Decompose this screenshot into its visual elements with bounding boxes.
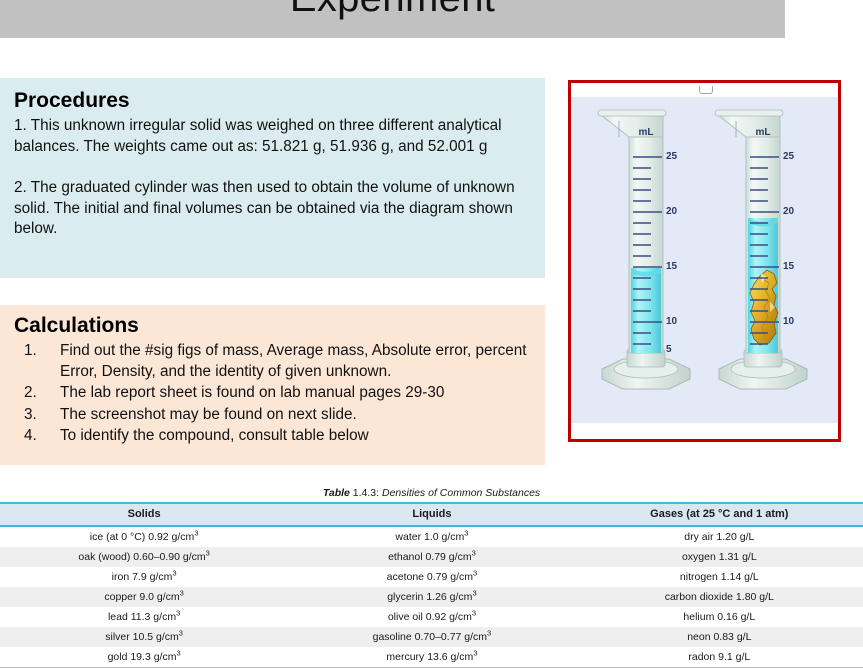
- cell-solid: oak (wood) 0.60–0.90 g/cm3: [0, 547, 288, 567]
- calculations-item-text: The screenshot may be found on next slid…: [60, 406, 357, 423]
- cell-text: helium 0.16 g/L: [683, 611, 755, 623]
- cell-gas: radon 9.1 g/L: [576, 647, 863, 668]
- table-row: copper 9.0 g/cm3glycerin 1.26 g/cm3carbo…: [0, 587, 863, 607]
- cell-solid: lead 11.3 g/cm3: [0, 607, 288, 627]
- calculations-item-text: The lab report sheet is found on lab man…: [60, 384, 444, 401]
- calculations-item: 3.The screenshot may be found on next sl…: [14, 405, 531, 426]
- svg-text:15: 15: [783, 261, 795, 272]
- caption-title: Densities of Common Substances: [382, 487, 540, 499]
- calculations-item-number: 1.: [24, 341, 37, 362]
- density-table-section: Table 1.4.3: Densities of Common Substan…: [0, 486, 863, 668]
- cell-liquid: water 1.0 g/cm3: [288, 526, 575, 547]
- calculations-item-text: Find out the #sig figs of mass, Average …: [60, 342, 527, 380]
- table-body: ice (at 0 °C) 0.92 g/cm3water 1.0 g/cm3d…: [0, 526, 863, 668]
- cell-text: gasoline 0.70–0.77 g/cm: [373, 631, 487, 643]
- cell-text: water 1.0 g/cm: [395, 531, 464, 543]
- figure-canvas: mL 25 20 15 10 5: [571, 97, 838, 423]
- caption-separator: :: [376, 487, 379, 499]
- svg-text:20: 20: [666, 206, 678, 217]
- cell-exponent: 3: [180, 589, 184, 598]
- calculations-item: 1.Find out the #sig figs of mass, Averag…: [14, 341, 531, 382]
- cell-liquid: mercury 13.6 g/cm3: [288, 647, 575, 668]
- cell-text: gold 19.3 g/cm: [108, 651, 177, 663]
- cell-text: carbon dioxide 1.80 g/L: [665, 591, 774, 603]
- cell-text: lead 11.3 g/cm: [108, 611, 176, 623]
- procedures-step-1: 1. This unknown irregular solid was weig…: [14, 116, 531, 157]
- figure-bottom-strip: [571, 423, 838, 439]
- cell-solid: ice (at 0 °C) 0.92 g/cm3: [0, 526, 288, 547]
- page-title: Experiment: [0, 0, 785, 24]
- initial-volume-cylinder: mL 25 20 15 10 5: [598, 110, 690, 389]
- graduated-cylinder-figure: mL 25 20 15 10 5: [568, 80, 841, 442]
- svg-text:25: 25: [666, 151, 678, 162]
- cell-gas: helium 0.16 g/L: [576, 607, 863, 627]
- cell-solid: silver 10.5 g/cm3: [0, 627, 288, 647]
- cell-exponent: 3: [176, 649, 180, 658]
- calculations-item-number: 4.: [24, 426, 37, 447]
- cell-exponent: 3: [473, 569, 477, 578]
- cell-exponent: 3: [194, 529, 198, 538]
- cell-text: neon 0.83 g/L: [687, 631, 751, 643]
- calculations-item-number: 2.: [24, 383, 37, 404]
- svg-text:25: 25: [783, 151, 795, 162]
- cell-text: silver 10.5 g/cm: [105, 631, 179, 643]
- cell-liquid: glycerin 1.26 g/cm3: [288, 587, 575, 607]
- cell-gas: nitrogen 1.14 g/L: [576, 567, 863, 587]
- cell-text: ethanol 0.79 g/cm: [388, 551, 471, 563]
- cell-solid: iron 7.9 g/cm3: [0, 567, 288, 587]
- table-row: ice (at 0 °C) 0.92 g/cm3water 1.0 g/cm3d…: [0, 526, 863, 547]
- table-row: gold 19.3 g/cm3mercury 13.6 g/cm3radon 9…: [0, 647, 863, 668]
- cell-text: mercury 13.6 g/cm: [386, 651, 473, 663]
- calculations-heading: Calculations: [14, 313, 531, 339]
- svg-text:10: 10: [666, 316, 678, 327]
- cell-gas: carbon dioxide 1.80 g/L: [576, 587, 863, 607]
- cell-text: iron 7.9 g/cm: [112, 571, 173, 583]
- cell-text: ice (at 0 °C) 0.92 g/cm: [90, 531, 195, 543]
- cell-exponent: 3: [472, 589, 476, 598]
- svg-text:5: 5: [666, 344, 672, 355]
- cell-text: radon 9.1 g/L: [688, 651, 750, 663]
- calculations-item-number: 3.: [24, 405, 37, 426]
- cell-exponent: 3: [472, 609, 476, 618]
- cell-gas: dry air 1.20 g/L: [576, 526, 863, 547]
- table-caption: Table 1.4.3: Densities of Common Substan…: [0, 486, 863, 502]
- calculations-list: 1.Find out the #sig figs of mass, Averag…: [14, 341, 531, 447]
- cell-text: dry air 1.20 g/L: [684, 531, 754, 543]
- cell-text: nitrogen 1.14 g/L: [680, 571, 759, 583]
- cell-text: oxygen 1.31 g/L: [682, 551, 757, 563]
- left-unit-label: mL: [639, 127, 654, 138]
- cell-exponent: 3: [206, 549, 210, 558]
- slide-title-bar: Experiment: [0, 0, 785, 38]
- table-row: iron 7.9 g/cm3acetone 0.79 g/cm3nitrogen…: [0, 567, 863, 587]
- cell-text: oak (wood) 0.60–0.90 g/cm: [78, 551, 205, 563]
- figure-top-strip: [571, 83, 838, 97]
- cell-solid: gold 19.3 g/cm3: [0, 647, 288, 668]
- column-header-gases: Gases (at 25 °C and 1 atm): [576, 503, 863, 526]
- cell-gas: oxygen 1.31 g/L: [576, 547, 863, 567]
- table-row: silver 10.5 g/cm3gasoline 0.70–0.77 g/cm…: [0, 627, 863, 647]
- final-volume-cylinder: mL 25 20 15 10: [715, 110, 807, 389]
- caption-number: 1.4.3: [353, 487, 376, 499]
- column-header-liquids: Liquids: [288, 503, 575, 526]
- table-row: lead 11.3 g/cm3olive oil 0.92 g/cm3heliu…: [0, 607, 863, 627]
- cell-liquid: acetone 0.79 g/cm3: [288, 567, 575, 587]
- svg-text:10: 10: [783, 316, 795, 327]
- procedures-heading: Procedures: [14, 88, 531, 114]
- caption-label: Table: [323, 487, 350, 499]
- density-table: Solids Liquids Gases (at 25 °C and 1 atm…: [0, 502, 863, 668]
- cell-text: copper 9.0 g/cm: [104, 591, 179, 603]
- cell-text: glycerin 1.26 g/cm: [387, 591, 472, 603]
- table-header-row: Solids Liquids Gases (at 25 °C and 1 atm…: [0, 503, 863, 526]
- cell-liquid: ethanol 0.79 g/cm3: [288, 547, 575, 567]
- cell-solid: copper 9.0 g/cm3: [0, 587, 288, 607]
- cell-exponent: 3: [464, 529, 468, 538]
- table-row: oak (wood) 0.60–0.90 g/cm3ethanol 0.79 g…: [0, 547, 863, 567]
- cell-text: olive oil 0.92 g/cm: [388, 611, 472, 623]
- svg-text:20: 20: [783, 206, 795, 217]
- cylinders-svg: mL 25 20 15 10 5: [571, 97, 838, 423]
- cell-text: acetone 0.79 g/cm: [387, 571, 473, 583]
- cell-liquid: olive oil 0.92 g/cm3: [288, 607, 575, 627]
- calculations-item: 2.The lab report sheet is found on lab m…: [14, 383, 531, 404]
- calculations-panel: Calculations 1.Find out the #sig figs of…: [0, 305, 545, 465]
- cell-exponent: 3: [172, 569, 176, 578]
- cell-exponent: 3: [487, 629, 491, 638]
- cell-exponent: 3: [472, 549, 476, 558]
- column-header-solids: Solids: [0, 503, 288, 526]
- cell-exponent: 3: [176, 609, 180, 618]
- procedures-step-2: 2. The graduated cylinder was then used …: [14, 178, 531, 240]
- right-unit-label: mL: [756, 127, 771, 138]
- procedures-panel: Procedures 1. This unknown irregular sol…: [0, 78, 545, 278]
- calculations-item-text: To identify the compound, consult table …: [60, 427, 369, 444]
- svg-text:15: 15: [666, 261, 678, 272]
- cell-liquid: gasoline 0.70–0.77 g/cm3: [288, 627, 575, 647]
- cell-exponent: 3: [473, 649, 477, 658]
- calculations-item: 4.To identify the compound, consult tabl…: [14, 426, 531, 447]
- cell-gas: neon 0.83 g/L: [576, 627, 863, 647]
- table-head: Solids Liquids Gases (at 25 °C and 1 atm…: [0, 503, 863, 526]
- clip-icon: [699, 86, 713, 94]
- cell-exponent: 3: [179, 629, 183, 638]
